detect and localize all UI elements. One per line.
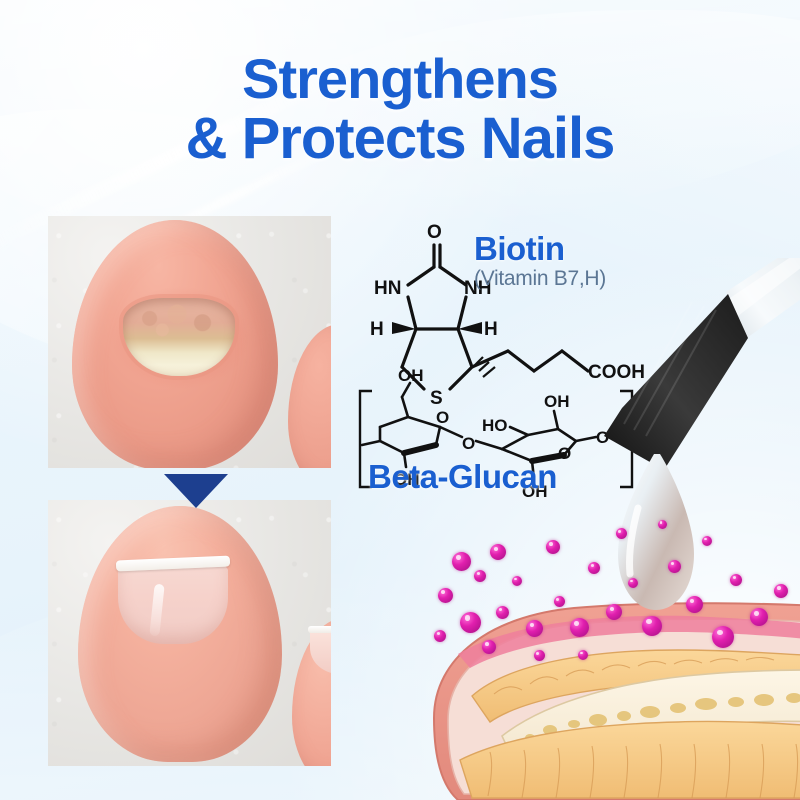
biotin-subtitle: (Vitamin B7,H) xyxy=(474,268,606,289)
label-bg-ho-mid: HO xyxy=(482,416,508,435)
label-hydrogen-left: H xyxy=(370,319,384,340)
particle xyxy=(642,616,662,636)
label-bg-ring-oxygen-left: O xyxy=(436,408,449,427)
particle xyxy=(750,608,768,626)
particle xyxy=(702,536,712,546)
particle xyxy=(554,596,565,607)
particle xyxy=(616,528,627,539)
beta-glucan-name: Beta-Glucan xyxy=(368,458,557,496)
label-sulfur: S xyxy=(430,388,443,409)
particle xyxy=(474,570,486,582)
before-after-arrow-icon xyxy=(164,474,228,508)
active-ingredient-particles xyxy=(430,500,800,720)
particle xyxy=(730,574,742,586)
particle xyxy=(496,606,509,619)
particle xyxy=(526,620,543,637)
particle xyxy=(588,562,600,574)
biotin-label: Biotin (Vitamin B7,H) xyxy=(474,232,606,289)
headline-line-1: Strengthens xyxy=(0,52,800,107)
label-bg-bridge-oxygen: O xyxy=(462,434,475,453)
particle xyxy=(668,560,681,573)
particle xyxy=(546,540,560,554)
label-bg-oh-top-left: OH xyxy=(398,366,424,385)
after-secondary-nail-tip xyxy=(308,626,331,633)
particle xyxy=(438,588,453,603)
after-healthy-nail xyxy=(118,564,228,644)
label-bg-oh-top-right: OH xyxy=(544,392,570,411)
particle xyxy=(774,584,788,598)
particle xyxy=(570,618,589,637)
headline-line-2: & Protects Nails xyxy=(0,111,800,168)
particle xyxy=(490,544,506,560)
particle xyxy=(686,596,703,613)
particle xyxy=(606,604,622,620)
headline: Strengthens & Protects Nails xyxy=(0,52,800,168)
particle xyxy=(628,578,638,588)
particle xyxy=(534,650,545,661)
label-amine-left: HN xyxy=(374,278,401,299)
particle xyxy=(452,552,471,571)
before-photo xyxy=(48,216,331,468)
biotin-name: Biotin xyxy=(474,232,606,265)
particle xyxy=(578,650,588,660)
before-nail-roughness xyxy=(130,304,228,340)
product-ad-banner: Strengthens & Protects Nails xyxy=(0,0,800,800)
label-hydrogen-right: H xyxy=(484,319,498,340)
after-photo xyxy=(48,500,331,766)
particle xyxy=(658,520,667,529)
particle xyxy=(482,640,496,654)
label-bg-ring-oxygen-right: O xyxy=(558,444,571,463)
particle xyxy=(460,612,481,633)
particle xyxy=(434,630,446,642)
particle xyxy=(712,626,734,648)
label-carbonyl-oxygen: O xyxy=(427,222,442,243)
particle xyxy=(512,576,522,586)
